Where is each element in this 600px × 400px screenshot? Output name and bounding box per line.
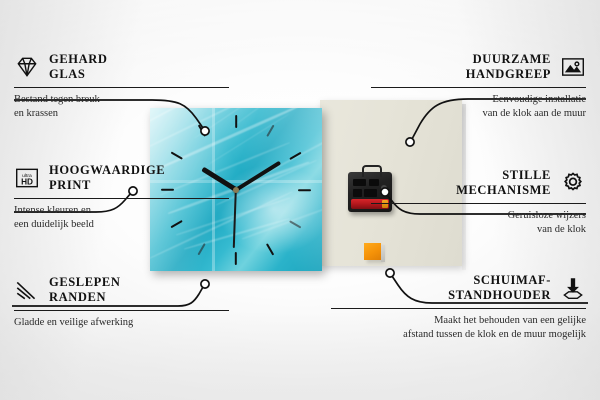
callout-geslepen-randen: GESLEPEN RANDEN Gladde en veilige afwerk… xyxy=(14,275,229,330)
callout-description: Eenvoudige installatie van de klok aan d… xyxy=(371,93,586,121)
clock-tick xyxy=(289,219,301,228)
callout-title: DUURZAME HANDGREEP xyxy=(466,52,551,83)
callout-rule xyxy=(331,308,586,309)
diagonal-lines-icon xyxy=(14,277,40,303)
clock-tick xyxy=(235,252,237,265)
callout-header: STILLE MECHANISME xyxy=(371,168,586,199)
clock-minute-hand xyxy=(235,160,281,191)
callout-rule xyxy=(14,87,229,88)
clock-center-cap xyxy=(233,187,239,193)
callout-rule xyxy=(14,310,229,311)
callout-hoogwaardige-print: ultra HD HOOGWAARDIGE PRINT Intense kleu… xyxy=(14,163,229,232)
clock-tick xyxy=(266,243,275,255)
callout-header: SCHUIMAF- STANDHOUDER xyxy=(331,273,586,304)
callout-title: HOOGWAARDIGE PRINT xyxy=(49,163,165,194)
callout-description: Intense kleuren en een duidelijk beeld xyxy=(14,204,229,232)
callout-description: Geruisloze wijzers van de klok xyxy=(371,209,586,237)
callout-title: STILLE MECHANISME xyxy=(456,168,551,199)
callout-rule xyxy=(371,203,586,204)
foam-spacer-pad xyxy=(364,243,381,260)
callout-header: GESLEPEN RANDEN xyxy=(14,275,229,306)
picture-frame-icon xyxy=(560,54,586,80)
mechanism-vent xyxy=(353,179,366,186)
ultra-hd-icon: ultra HD xyxy=(14,165,40,191)
down-arrow-pad-icon xyxy=(560,275,586,301)
callout-title: SCHUIMAF- STANDHOUDER xyxy=(448,273,551,304)
clock-tick xyxy=(298,188,311,190)
gear-icon xyxy=(560,170,586,196)
callout-schuimafstandhouder: SCHUIMAF- STANDHOUDER Maakt het behouden… xyxy=(331,273,586,342)
callout-gehard-glas: GEHARD GLAS Bestand tegen breuk en krass… xyxy=(14,52,229,121)
callout-header: ultra HD HOOGWAARDIGE PRINT xyxy=(14,163,229,194)
callout-duurzame-handgreep: DUURZAME HANDGREEP Eenvoudige installati… xyxy=(371,52,586,121)
callout-description: Gladde en veilige afwerking xyxy=(14,316,229,330)
clock-tick xyxy=(289,151,301,160)
clock-tick xyxy=(266,124,275,136)
callout-description: Maakt het behouden van een gelijke afsta… xyxy=(331,314,586,342)
clock-second-hand xyxy=(233,189,237,247)
callout-title: GEHARD GLAS xyxy=(49,52,107,83)
clock-tick xyxy=(197,124,206,136)
callout-header: DUURZAME HANDGREEP xyxy=(371,52,586,83)
svg-text:HD: HD xyxy=(21,178,33,187)
callout-rule xyxy=(371,87,586,88)
clock-tick xyxy=(235,115,237,128)
callout-title: GESLEPEN RANDEN xyxy=(49,275,121,306)
clock-tick xyxy=(197,243,206,255)
callout-description: Bestand tegen breuk en krassen xyxy=(14,93,229,121)
callout-header: GEHARD GLAS xyxy=(14,52,229,83)
product-infographic: GEHARD GLAS Bestand tegen breuk en krass… xyxy=(0,0,600,400)
clock-tick xyxy=(170,151,182,160)
callout-stille-mechanisme: STILLE MECHANISME Geruisloze wijzers van… xyxy=(371,168,586,237)
mechanism-vent xyxy=(353,189,362,197)
callout-rule xyxy=(14,198,229,199)
diamond-icon xyxy=(14,54,40,80)
